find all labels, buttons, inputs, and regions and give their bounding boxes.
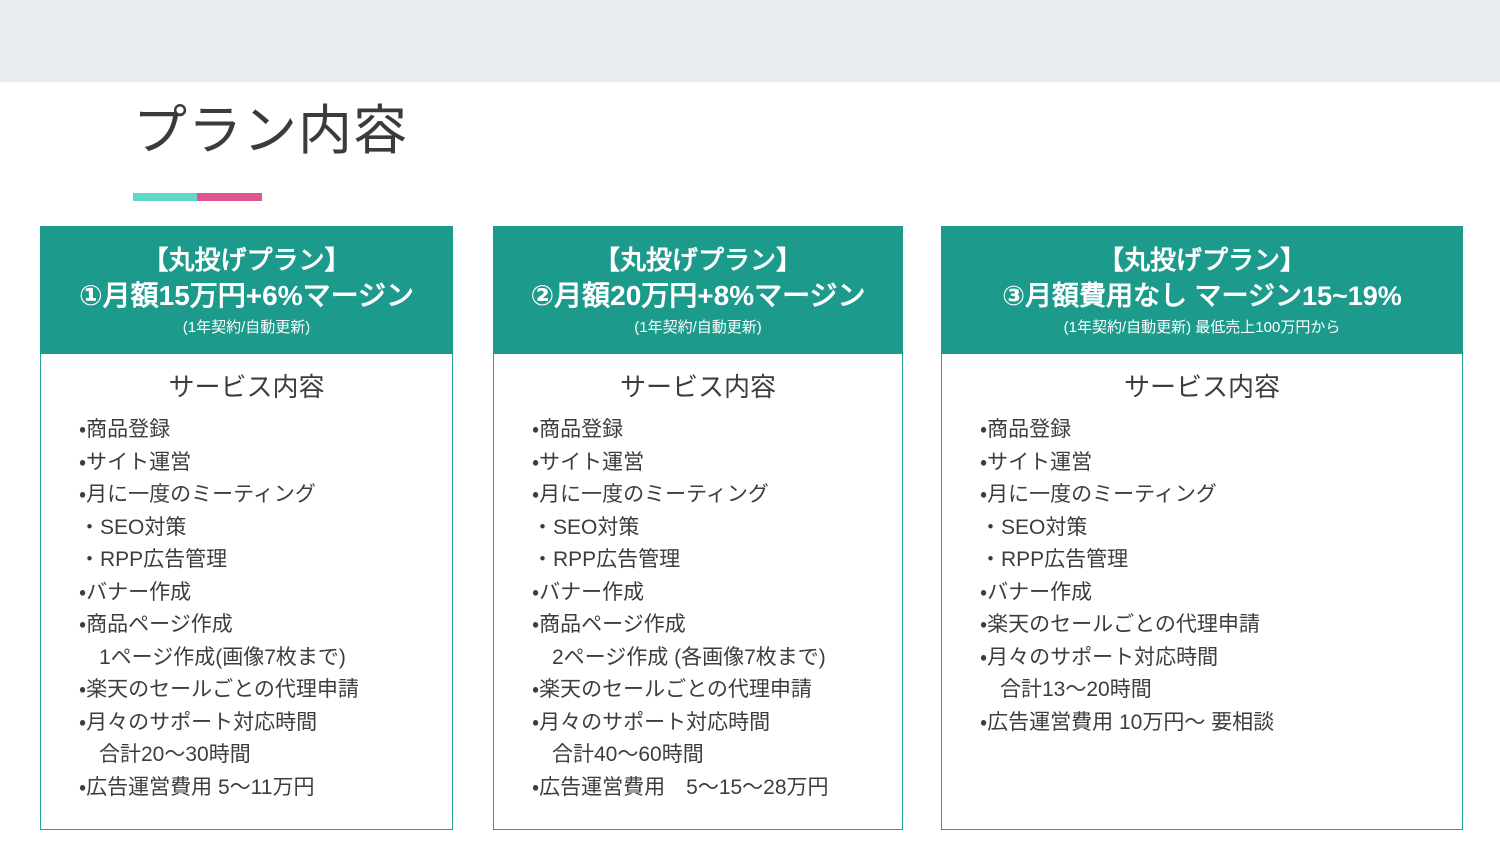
service-list-item: ・月に一度のミーティング — [79, 479, 442, 512]
plan-card-3-body: サービス内容 ・商品登録・サイト運営・月に一度のミーティング・SEO対策・RPP… — [941, 354, 1463, 830]
plan-card-1-price: ①月額15万円+6%マージン — [46, 277, 447, 315]
plan-card-1-note: (1年契約/自動更新) — [46, 317, 447, 339]
service-list-item: ・RPP広告管理 — [79, 544, 442, 577]
service-list-item: ・月に一度のミーティング — [532, 479, 892, 512]
plan-cards-row: 【丸投げプラン】 ①月額15万円+6%マージン (1年契約/自動更新) サービス… — [0, 226, 1500, 832]
title-underline-rule — [133, 193, 262, 201]
service-list-item: 合計40〜60時間 — [532, 739, 892, 772]
plan-card-3-note: (1年契約/自動更新) 最低売上100万円から — [947, 317, 1457, 339]
service-list-item: ・SEO対策 — [79, 512, 442, 545]
service-list-item: ・商品登録 — [532, 414, 892, 447]
plan-card-3-title: 【丸投げプラン】 — [947, 243, 1457, 277]
service-list-item: ・月々のサポート対応時間 — [532, 707, 892, 740]
service-list-item: ・広告運営費用 5〜15〜28万円 — [532, 772, 892, 805]
service-list-item: ・楽天のセールごとの代理申請 — [980, 609, 1452, 642]
plan-card-1-service-list: ・商品登録・サイト運営・月に一度のミーティング・SEO対策・RPP広告管理・バナ… — [41, 414, 452, 804]
plan-card-2-service-list: ・商品登録・サイト運営・月に一度のミーティング・SEO対策・RPP広告管理・バナ… — [494, 414, 902, 804]
service-list-item: 2ページ作成 (各画像7枚まで) — [532, 642, 892, 675]
service-list-item: ・商品ページ作成 — [79, 609, 442, 642]
plan-card-2-body-title: サービス内容 — [494, 370, 902, 404]
service-list-item: ・RPP広告管理 — [532, 544, 892, 577]
plan-card-2-title: 【丸投げプラン】 — [499, 243, 897, 277]
service-list-item: ・サイト運営 — [532, 447, 892, 480]
service-list-item: 合計20〜30時間 — [79, 739, 442, 772]
service-list-item: ・月々のサポート対応時間 — [980, 642, 1452, 675]
plan-card-1-header: 【丸投げプラン】 ①月額15万円+6%マージン (1年契約/自動更新) — [40, 226, 453, 354]
plan-card-2-note: (1年契約/自動更新) — [499, 317, 897, 339]
plan-card-1: 【丸投げプラン】 ①月額15万円+6%マージン (1年契約/自動更新) サービス… — [40, 226, 453, 830]
plan-card-3-body-title: サービス内容 — [942, 370, 1462, 404]
service-list-item: ・商品登録 — [980, 414, 1452, 447]
plan-card-1-body-title: サービス内容 — [41, 370, 452, 404]
title-rule-mint-segment — [133, 193, 197, 201]
plan-card-2-price: ②月額20万円+8%マージン — [499, 277, 897, 315]
service-list-item: ・SEO対策 — [980, 512, 1452, 545]
service-list-item: ・楽天のセールごとの代理申請 — [79, 674, 442, 707]
service-list-item: ・商品登録 — [79, 414, 442, 447]
service-list-item: ・楽天のセールごとの代理申請 — [532, 674, 892, 707]
plan-card-3-header: 【丸投げプラン】 ③月額費用なし マージン15~19% (1年契約/自動更新) … — [941, 226, 1463, 354]
service-list-item: ・月々のサポート対応時間 — [79, 707, 442, 740]
title-rule-pink-segment — [197, 193, 262, 201]
service-list-item: ・バナー作成 — [532, 577, 892, 610]
top-gray-band — [0, 0, 1500, 82]
service-list-item: ・広告運営費用 5〜11万円 — [79, 772, 442, 805]
plan-card-1-body: サービス内容 ・商品登録・サイト運営・月に一度のミーティング・SEO対策・RPP… — [40, 354, 453, 830]
plan-card-3-service-list: ・商品登録・サイト運営・月に一度のミーティング・SEO対策・RPP広告管理・バナ… — [942, 414, 1462, 739]
plan-card-2-header: 【丸投げプラン】 ②月額20万円+8%マージン (1年契約/自動更新) — [493, 226, 903, 354]
service-list-item: 1ページ作成(画像7枚まで) — [79, 642, 442, 675]
service-list-item: ・サイト運営 — [79, 447, 442, 480]
plan-card-3: 【丸投げプラン】 ③月額費用なし マージン15~19% (1年契約/自動更新) … — [941, 226, 1463, 830]
service-list-item: ・バナー作成 — [79, 577, 442, 610]
plan-card-1-title: 【丸投げプラン】 — [46, 243, 447, 277]
service-list-item: ・広告運営費用 10万円〜 要相談 — [980, 707, 1452, 740]
plan-card-3-price: ③月額費用なし マージン15~19% — [947, 277, 1457, 315]
service-list-item: ・商品ページ作成 — [532, 609, 892, 642]
service-list-item: ・バナー作成 — [980, 577, 1452, 610]
service-list-item: ・月に一度のミーティング — [980, 479, 1452, 512]
service-list-item: ・RPP広告管理 — [980, 544, 1452, 577]
plan-card-2-body: サービス内容 ・商品登録・サイト運営・月に一度のミーティング・SEO対策・RPP… — [493, 354, 903, 830]
service-list-item: ・SEO対策 — [532, 512, 892, 545]
service-list-item: 合計13〜20時間 — [980, 674, 1452, 707]
plan-card-2: 【丸投げプラン】 ②月額20万円+8%マージン (1年契約/自動更新) サービス… — [493, 226, 903, 830]
service-list-item: ・サイト運営 — [980, 447, 1452, 480]
page-title: プラン内容 — [133, 99, 408, 163]
